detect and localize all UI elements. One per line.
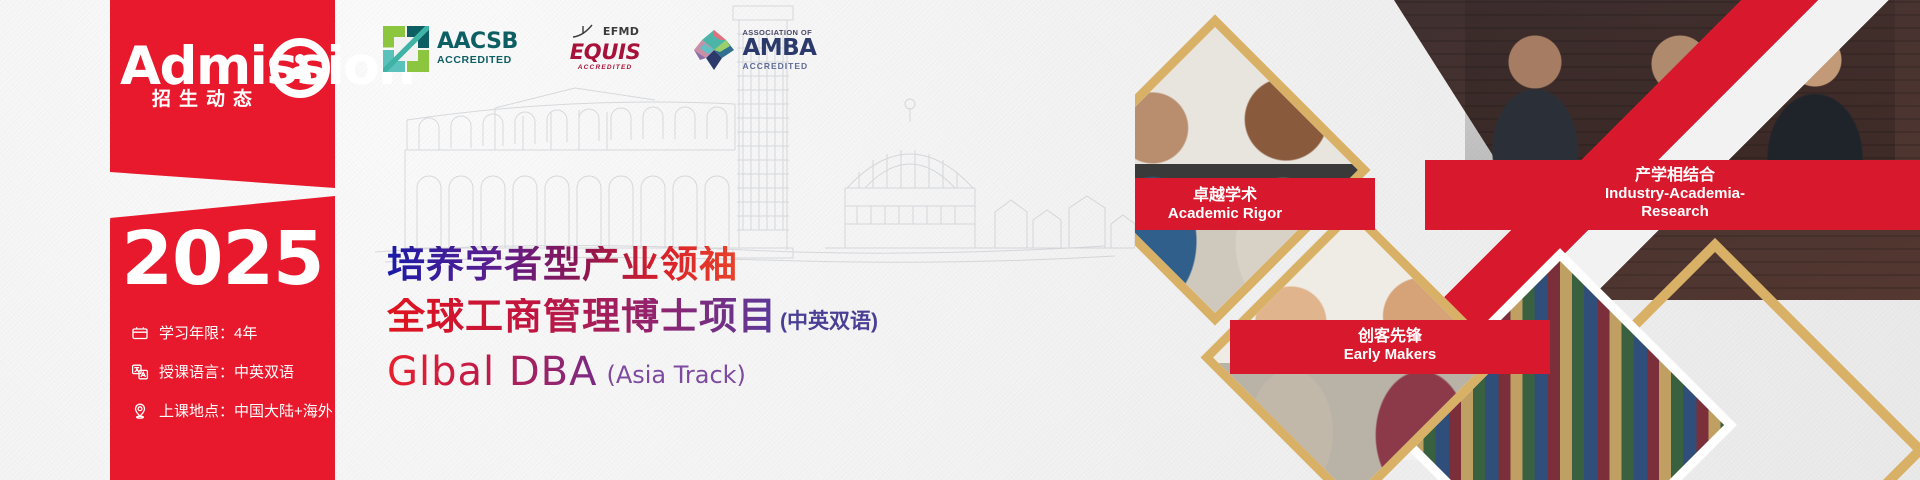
year-label: 2025	[110, 222, 335, 296]
person-silhouette-icon	[288, 54, 312, 78]
headline-english-track: (Asia Track)	[606, 361, 745, 392]
caption-bar-industry-academia	[1425, 160, 1920, 230]
language-icon	[130, 362, 150, 382]
info-row-duration: 学习年限：4年	[130, 322, 335, 343]
aacsb-mark-icon	[383, 26, 429, 72]
info-row-language: 授课语言：中英双语	[130, 361, 335, 382]
photo-collage: 卓越学术 Academic Rigor 产学相结合 Industry-Acade…	[1135, 0, 1920, 480]
admission-banner: Admission 招生动态 2025 学习年限：4年	[0, 0, 1920, 480]
equis-swoosh-icon	[571, 23, 599, 39]
amba-name: AMBA	[742, 37, 816, 60]
amba-diamond-icon	[692, 28, 736, 72]
aacsb-logo: AACSB ACCREDITED	[383, 26, 518, 72]
equis-accredited-label: ACCREDITED	[570, 65, 641, 72]
headline-program-bilingual-note: (中英双语)	[780, 305, 878, 338]
admission-chinese-text: 招生动态	[152, 84, 260, 111]
aacsb-accredited-label: ACCREDITED	[437, 55, 518, 66]
amba-logo: ASSOCIATION OF AMBA ACCREDITED	[692, 28, 816, 72]
headline-english-title: Glbal DBA (Asia Track)	[387, 352, 878, 392]
left-red-panel: Admission 招生动态 2025 学习年限：4年	[110, 0, 335, 480]
program-info-list: 学习年限：4年 授课语言：中英双语	[130, 322, 335, 439]
location-pin-icon	[130, 401, 150, 421]
amba-accredited-label: ACCREDITED	[742, 62, 816, 71]
efmd-label: EFMD	[603, 26, 639, 37]
aacsb-name: AACSB	[437, 31, 518, 53]
equis-logo: EFMD EQUIS ACCREDITED	[570, 22, 641, 72]
info-label-duration: 学习年限：4年	[159, 322, 257, 343]
caption-bar-academic-rigor	[1135, 178, 1375, 230]
info-label-location: 上课地点：中国大陆+海外	[159, 400, 333, 421]
headline-tagline: 培养学者型产业领袖	[387, 246, 878, 286]
headline-program-title: 全球工商管理博士项目 (中英双语)	[387, 298, 878, 338]
info-row-location: 上课地点：中国大陆+海外	[130, 400, 335, 421]
info-label-language: 授课语言：中英双语	[159, 361, 294, 382]
center-content: AACSB ACCREDITED EFMD EQUIS ACCREDITED	[335, 0, 1135, 480]
admission-logo: Admission 招生动态	[110, 18, 335, 128]
caption-bar-early-makers	[1230, 320, 1550, 374]
accreditation-logos: AACSB ACCREDITED EFMD EQUIS ACCREDITED	[383, 22, 816, 72]
headline-program-main: 全球工商管理博士项目	[387, 298, 777, 338]
equis-name: EQUIS	[570, 42, 641, 63]
calendar-icon	[130, 323, 150, 343]
headline-block: 培养学者型产业领袖 全球工商管理博士项目 (中英双语) Glbal DBA (A…	[387, 246, 878, 392]
headline-english-main: Glbal DBA	[387, 352, 597, 392]
